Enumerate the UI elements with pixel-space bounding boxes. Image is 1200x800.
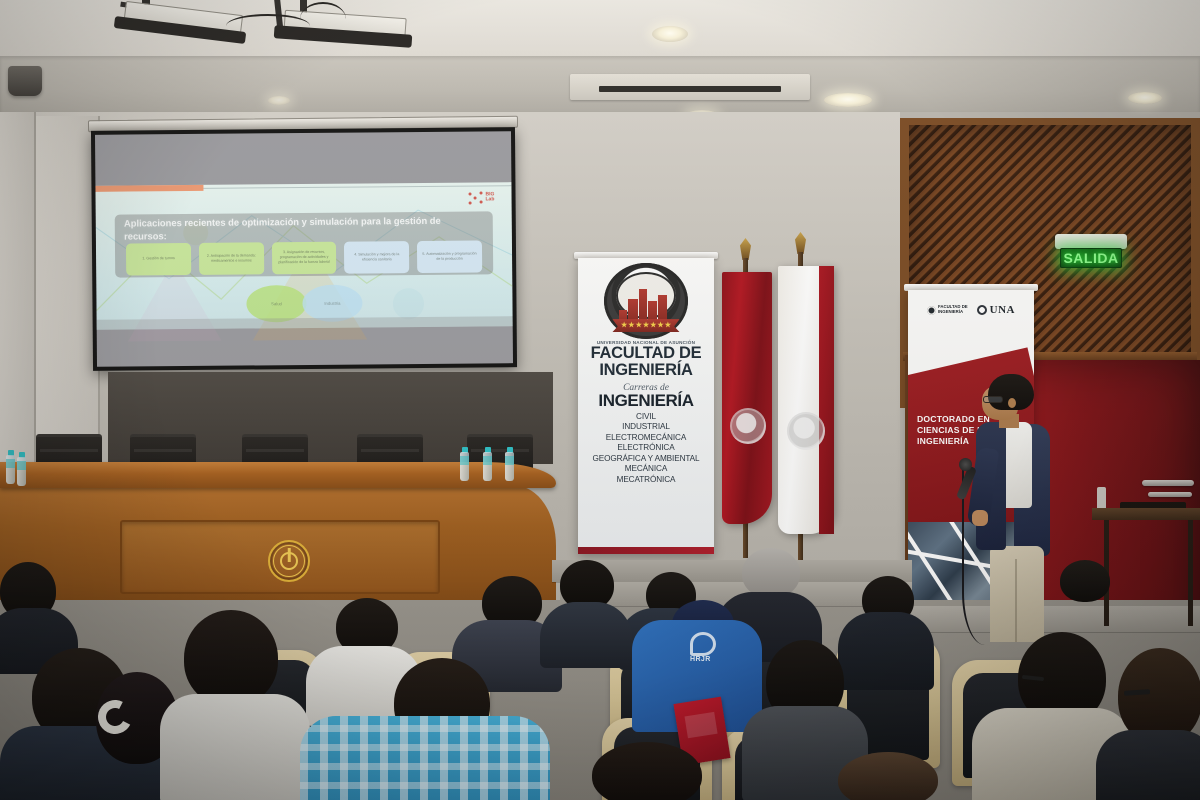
- jacket-badge-text: HRJR: [690, 656, 711, 663]
- slide-box: 5. Automatización y programación de la p…: [417, 240, 482, 272]
- wall-panel-left: [36, 116, 98, 476]
- audience-head: [1060, 560, 1110, 602]
- ceiling-spotlight: [268, 96, 290, 105]
- audience-head: [742, 548, 800, 598]
- banner-logo-row: FACULTAD DE INGENIERÍA UNA: [908, 304, 1034, 316]
- career-item: GEOGRÁFICA Y AMBIENTAL: [578, 454, 714, 465]
- ceiling-spotlight: [652, 26, 688, 42]
- audience-head: [184, 610, 278, 706]
- projection-screen: BIG Lab Aplicaciones recientes de optimi…: [91, 127, 517, 371]
- audience-torso: [1096, 730, 1200, 800]
- ac-vent: [570, 74, 810, 100]
- audience-torso: [540, 602, 632, 668]
- career-item: ELECTRÓNICA: [578, 443, 714, 454]
- una-mark-icon: [977, 305, 987, 315]
- crest-stars: ★★★★★★★: [612, 319, 679, 332]
- desk-seal-emblem: [268, 540, 310, 582]
- slide-box: 3. Asignación de recursos, programación …: [271, 242, 336, 274]
- water-bottle: [17, 452, 26, 486]
- audience-head: [838, 752, 938, 800]
- speaker-glasses: [983, 396, 1003, 403]
- slide-box-row: 1. Gestión de turnos 2. Anticipación de …: [126, 240, 482, 275]
- career-item: MECATRÓNICA: [578, 475, 714, 486]
- audience-torso: [160, 694, 310, 800]
- audience-head: [592, 742, 702, 800]
- exit-sign-housing: [1055, 234, 1127, 249]
- water-bottle: [460, 447, 469, 481]
- banner-careers-heading: INGENIERÍA: [578, 392, 714, 409]
- slide-accent-bar: [95, 185, 203, 192]
- banner-careers-list: CIVIL INDUSTRIAL ELECTROMECÁNICA ELECTRÓ…: [578, 412, 714, 486]
- banner-faculty-line2: INGENIERÍA: [578, 363, 714, 379]
- exit-sign: SALIDA: [1060, 248, 1122, 268]
- career-item: ELECTROMECÁNICA: [578, 433, 714, 444]
- logo-text: BIG Lab: [485, 192, 504, 203]
- water-bottle: [483, 447, 492, 481]
- ceiling-spotlight: [824, 93, 872, 107]
- slide-title-band: Aplicaciones recientes de optimización y…: [114, 211, 493, 278]
- slide-box: 2. Anticipación de la demanda: medicamen…: [199, 242, 264, 274]
- logo-una-text: UNA: [990, 304, 1015, 316]
- slide-title: Aplicaciones recientes de optimización y…: [124, 214, 484, 243]
- jacket-logo-icon: [690, 632, 716, 656]
- water-bottle: [6, 450, 15, 484]
- flag-seal: [787, 412, 825, 450]
- auditorium-photo: SALIDA: [0, 0, 1200, 800]
- logo-una: UNA: [977, 304, 1015, 316]
- slide-box: 1. Gestión de turnos: [126, 243, 191, 275]
- exit-sign-label: SALIDA: [1063, 250, 1118, 266]
- logo-dots-icon: [469, 191, 484, 204]
- speaker-presenter: [966, 374, 1058, 642]
- desk-top-surface: [0, 462, 556, 488]
- door-push-bar[interactable]: [1148, 492, 1192, 497]
- projector-cable: [226, 14, 310, 38]
- flag-seal: [730, 408, 766, 444]
- ceiling-spotlight: [1128, 92, 1162, 104]
- logo-facultad-ingenieria: FACULTAD DE INGENIERÍA: [927, 305, 968, 314]
- career-item: MECÁNICA: [578, 464, 714, 475]
- slide-box: 4. Simulación y mejora de la eficiencia …: [344, 241, 409, 273]
- projected-image: BIG Lab Aplicaciones recientes de optimi…: [95, 131, 513, 367]
- flag-white: [778, 266, 834, 534]
- career-item: CIVIL: [578, 412, 714, 423]
- audience-torso: [838, 612, 934, 690]
- projector-cable: [300, 2, 346, 36]
- audience-torso: [300, 716, 550, 800]
- speaker-pants: [990, 546, 1044, 642]
- fiuna-mark-icon: [927, 306, 936, 315]
- wall-speaker: [8, 66, 42, 96]
- banner-facultad-ingenieria: ★★★★★★★ UNIVERSIDAD NACIONAL DE ASUNCIÓN…: [578, 258, 714, 554]
- university-crest: ★★★★★★★: [604, 263, 688, 339]
- speaker-hand: [972, 510, 988, 526]
- career-item: INDUSTRIAL: [578, 422, 714, 433]
- door-push-bar[interactable]: [1142, 480, 1194, 486]
- slide-logo: BIG Lab: [468, 190, 504, 204]
- flag-red: [722, 272, 772, 524]
- flag-red-edge: [819, 266, 834, 534]
- banner-faculty-line1: FACULTAD DE: [578, 346, 714, 362]
- presentation-slide: BIG Lab Aplicaciones recientes de optimi…: [95, 182, 512, 329]
- microphone-head-icon: [959, 458, 972, 471]
- logo-fi-line2: INGENIERÍA: [938, 310, 968, 315]
- water-bottle: [505, 447, 514, 481]
- speaker-ear: [1008, 398, 1016, 408]
